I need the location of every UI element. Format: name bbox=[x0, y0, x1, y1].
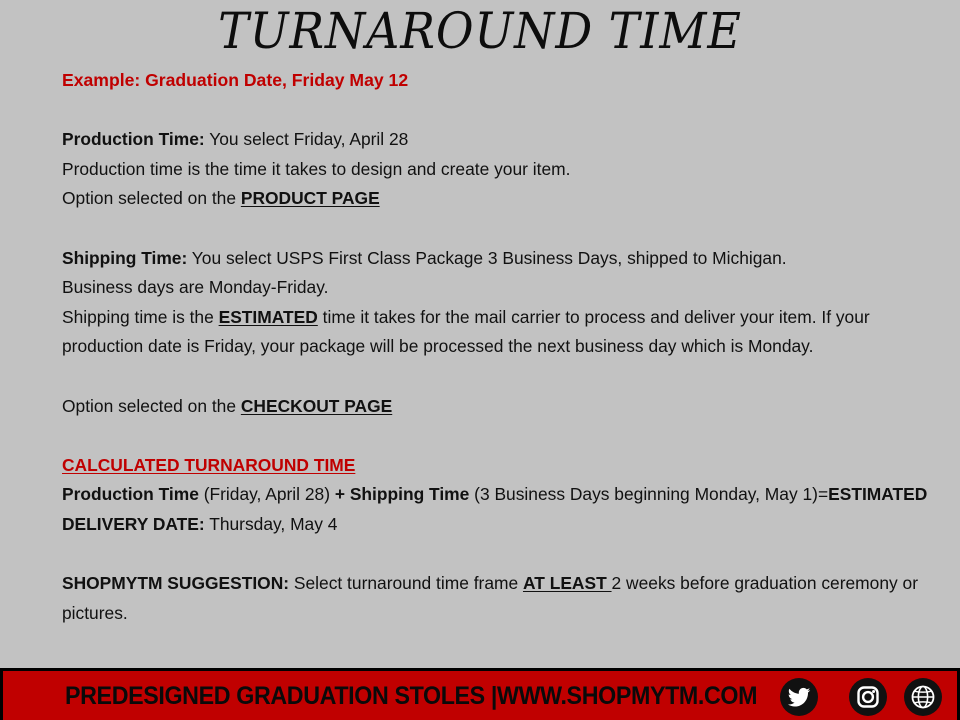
spacer-3 bbox=[62, 362, 940, 392]
suggestion-label: SHOPMYTM SUGGESTION: bbox=[62, 573, 289, 593]
production-time-line: Production Time: You select Friday, Apri… bbox=[62, 125, 940, 155]
shipping-time-label: Shipping Time: bbox=[62, 248, 187, 268]
calc-delivery-value: Thursday, May 4 bbox=[205, 514, 338, 534]
twitter-icon[interactable] bbox=[777, 675, 821, 719]
example-line: Example: Graduation Date, Friday May 12 bbox=[62, 66, 940, 96]
calc-production-detail: (Friday, April 28) bbox=[199, 484, 335, 504]
production-option-prefix: Option selected on the bbox=[62, 188, 241, 208]
slide-canvas: TURNAROUND TIME Example: Graduation Date… bbox=[0, 0, 960, 720]
shipping-desc-part1: Shipping time is the bbox=[62, 307, 219, 327]
suggestion-part1: Select turnaround time frame bbox=[289, 573, 523, 593]
calc-shipping-label: + Shipping Time bbox=[335, 484, 469, 504]
production-time-value: You select Friday, April 28 bbox=[205, 129, 409, 149]
shipping-time-line: Shipping Time: You select USPS First Cla… bbox=[62, 244, 940, 274]
production-time-label: Production Time: bbox=[62, 129, 205, 149]
instagram-icon[interactable] bbox=[846, 675, 890, 719]
shipping-time-value: You select USPS First Class Package 3 Bu… bbox=[187, 248, 786, 268]
spacer-1 bbox=[62, 96, 940, 126]
at-least-emphasis: AT LEAST bbox=[523, 573, 612, 593]
footer-text: PREDESIGNED GRADUATION STOLES |WWW.SHOPM… bbox=[65, 680, 757, 712]
calculated-turnaround-heading: CALCULATED TURNAROUND TIME bbox=[62, 451, 940, 481]
calculated-turnaround-formula: Production Time (Friday, April 28) + Shi… bbox=[62, 480, 940, 539]
calc-shipping-detail: (3 Business Days beginning Monday, May 1… bbox=[469, 484, 828, 504]
spacer-5 bbox=[62, 540, 940, 570]
production-description: Production time is the time it takes to … bbox=[62, 155, 940, 185]
page-title: TURNAROUND TIME bbox=[38, 2, 921, 60]
estimated-emphasis: ESTIMATED bbox=[219, 307, 318, 327]
suggestion-line: SHOPMYTM SUGGESTION: Select turnaround t… bbox=[62, 569, 940, 628]
calculated-turnaround-label: CALCULATED TURNAROUND TIME bbox=[62, 455, 355, 475]
website-globe-icon[interactable] bbox=[901, 675, 945, 719]
footer-banner: PREDESIGNED GRADUATION STOLES |WWW.SHOPM… bbox=[0, 668, 960, 720]
spacer-2 bbox=[62, 214, 940, 244]
shipping-business-days: Business days are Monday-Friday. bbox=[62, 273, 940, 303]
shipping-description: Shipping time is the ESTIMATED time it t… bbox=[62, 303, 940, 362]
shipping-option-line: Option selected on the CHECKOUT PAGE bbox=[62, 392, 940, 422]
shipping-option-prefix: Option selected on the bbox=[62, 396, 241, 416]
slide-body: Example: Graduation Date, Friday May 12 … bbox=[62, 66, 940, 628]
checkout-page-emphasis: CHECKOUT PAGE bbox=[241, 396, 392, 416]
production-option-line: Option selected on the PRODUCT PAGE bbox=[62, 184, 940, 214]
spacer-4 bbox=[62, 421, 940, 451]
calc-production-label: Production Time bbox=[62, 484, 199, 504]
product-page-emphasis: PRODUCT PAGE bbox=[241, 188, 380, 208]
